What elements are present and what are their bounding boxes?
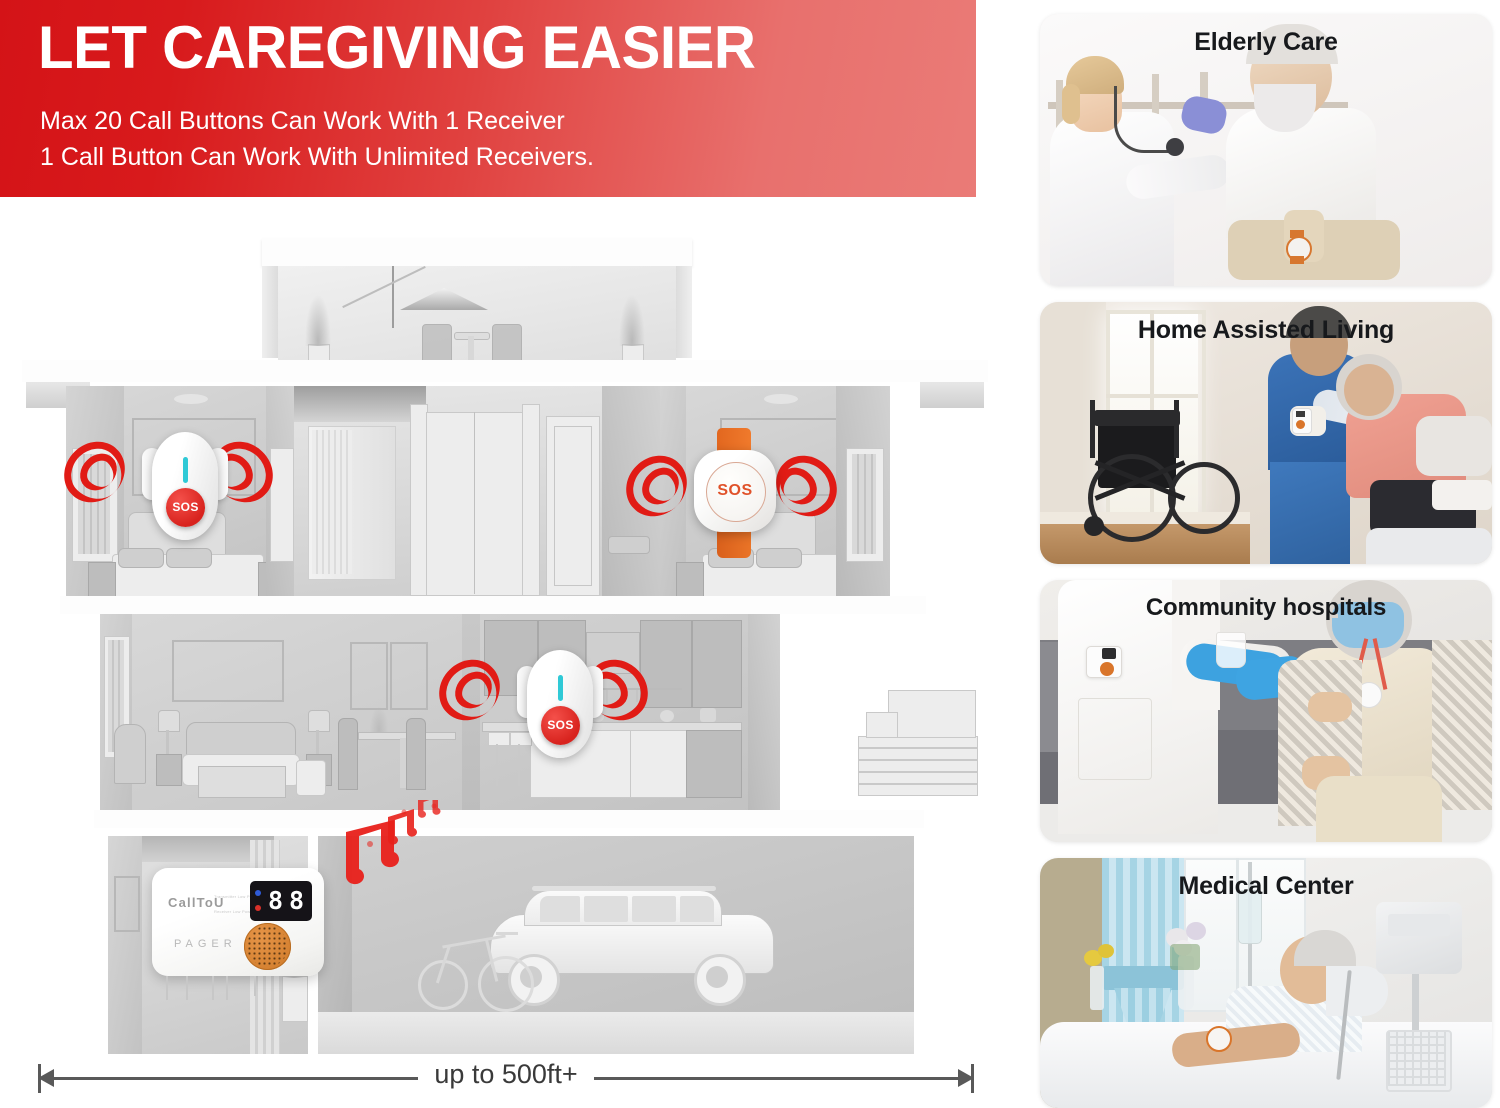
pager-digit-2: 8 [289, 888, 307, 914]
led-indicator-icon [558, 675, 563, 701]
use-case-card-medical-center[interactable]: Medical Center [1040, 858, 1492, 1108]
use-case-card-elderly-care[interactable]: Elderly Care [1040, 14, 1492, 286]
pager-display: 8 8 [250, 881, 312, 921]
led-indicator-icon [183, 457, 188, 483]
banner-subtitle-line-1: Max 20 Call Buttons Can Work With 1 Rece… [40, 104, 594, 140]
music-note-icon [330, 800, 450, 890]
living-dining-kitchen [100, 614, 780, 810]
pager-indicator-label-2: Receiver Low Power [214, 909, 254, 914]
house-cutaway-illustration: SOS SOS SOS [0, 200, 1010, 1060]
use-case-card-label: Home Assisted Living [1040, 316, 1492, 345]
pager-digit-1: 8 [268, 888, 286, 914]
use-case-card-list: Elderly Care [1040, 14, 1492, 1094]
range-label: up to 500ft+ [22, 1059, 990, 1090]
banner-subtitle: Max 20 Call Buttons Can Work With 1 Rece… [40, 104, 594, 175]
use-case-card-home-assisted-living[interactable]: Home Assisted Living [1040, 302, 1492, 564]
sound-notes [330, 800, 450, 890]
use-case-card-label: Community hospitals [1040, 594, 1492, 622]
banner-subtitle-line-2: 1 Call Button Can Work With Unlimited Re… [40, 140, 594, 176]
page-title: LET CAREGIVING EASIER [38, 16, 755, 79]
sos-button[interactable]: SOS [541, 706, 580, 745]
watch-sos-button[interactable]: SOS [706, 462, 764, 520]
upper-center-bath [294, 386, 660, 596]
use-case-card-label: Medical Center [1040, 872, 1492, 901]
use-case-card-community-hospitals[interactable]: Community hospitals [1040, 580, 1492, 842]
header-banner: LET CAREGIVING EASIER Max 20 Call Button… [0, 0, 976, 197]
pager-speaker [244, 923, 291, 970]
use-case-card-label: Elderly Care [1040, 28, 1492, 57]
pager-word-label: PAGER [174, 938, 237, 950]
transmitter-led-icon [255, 890, 261, 896]
range-indicator: up to 500ft+ [22, 1056, 990, 1100]
pager-stand-legs [160, 976, 280, 1000]
sos-button[interactable]: SOS [166, 488, 205, 527]
receiver-led-icon [255, 905, 261, 911]
